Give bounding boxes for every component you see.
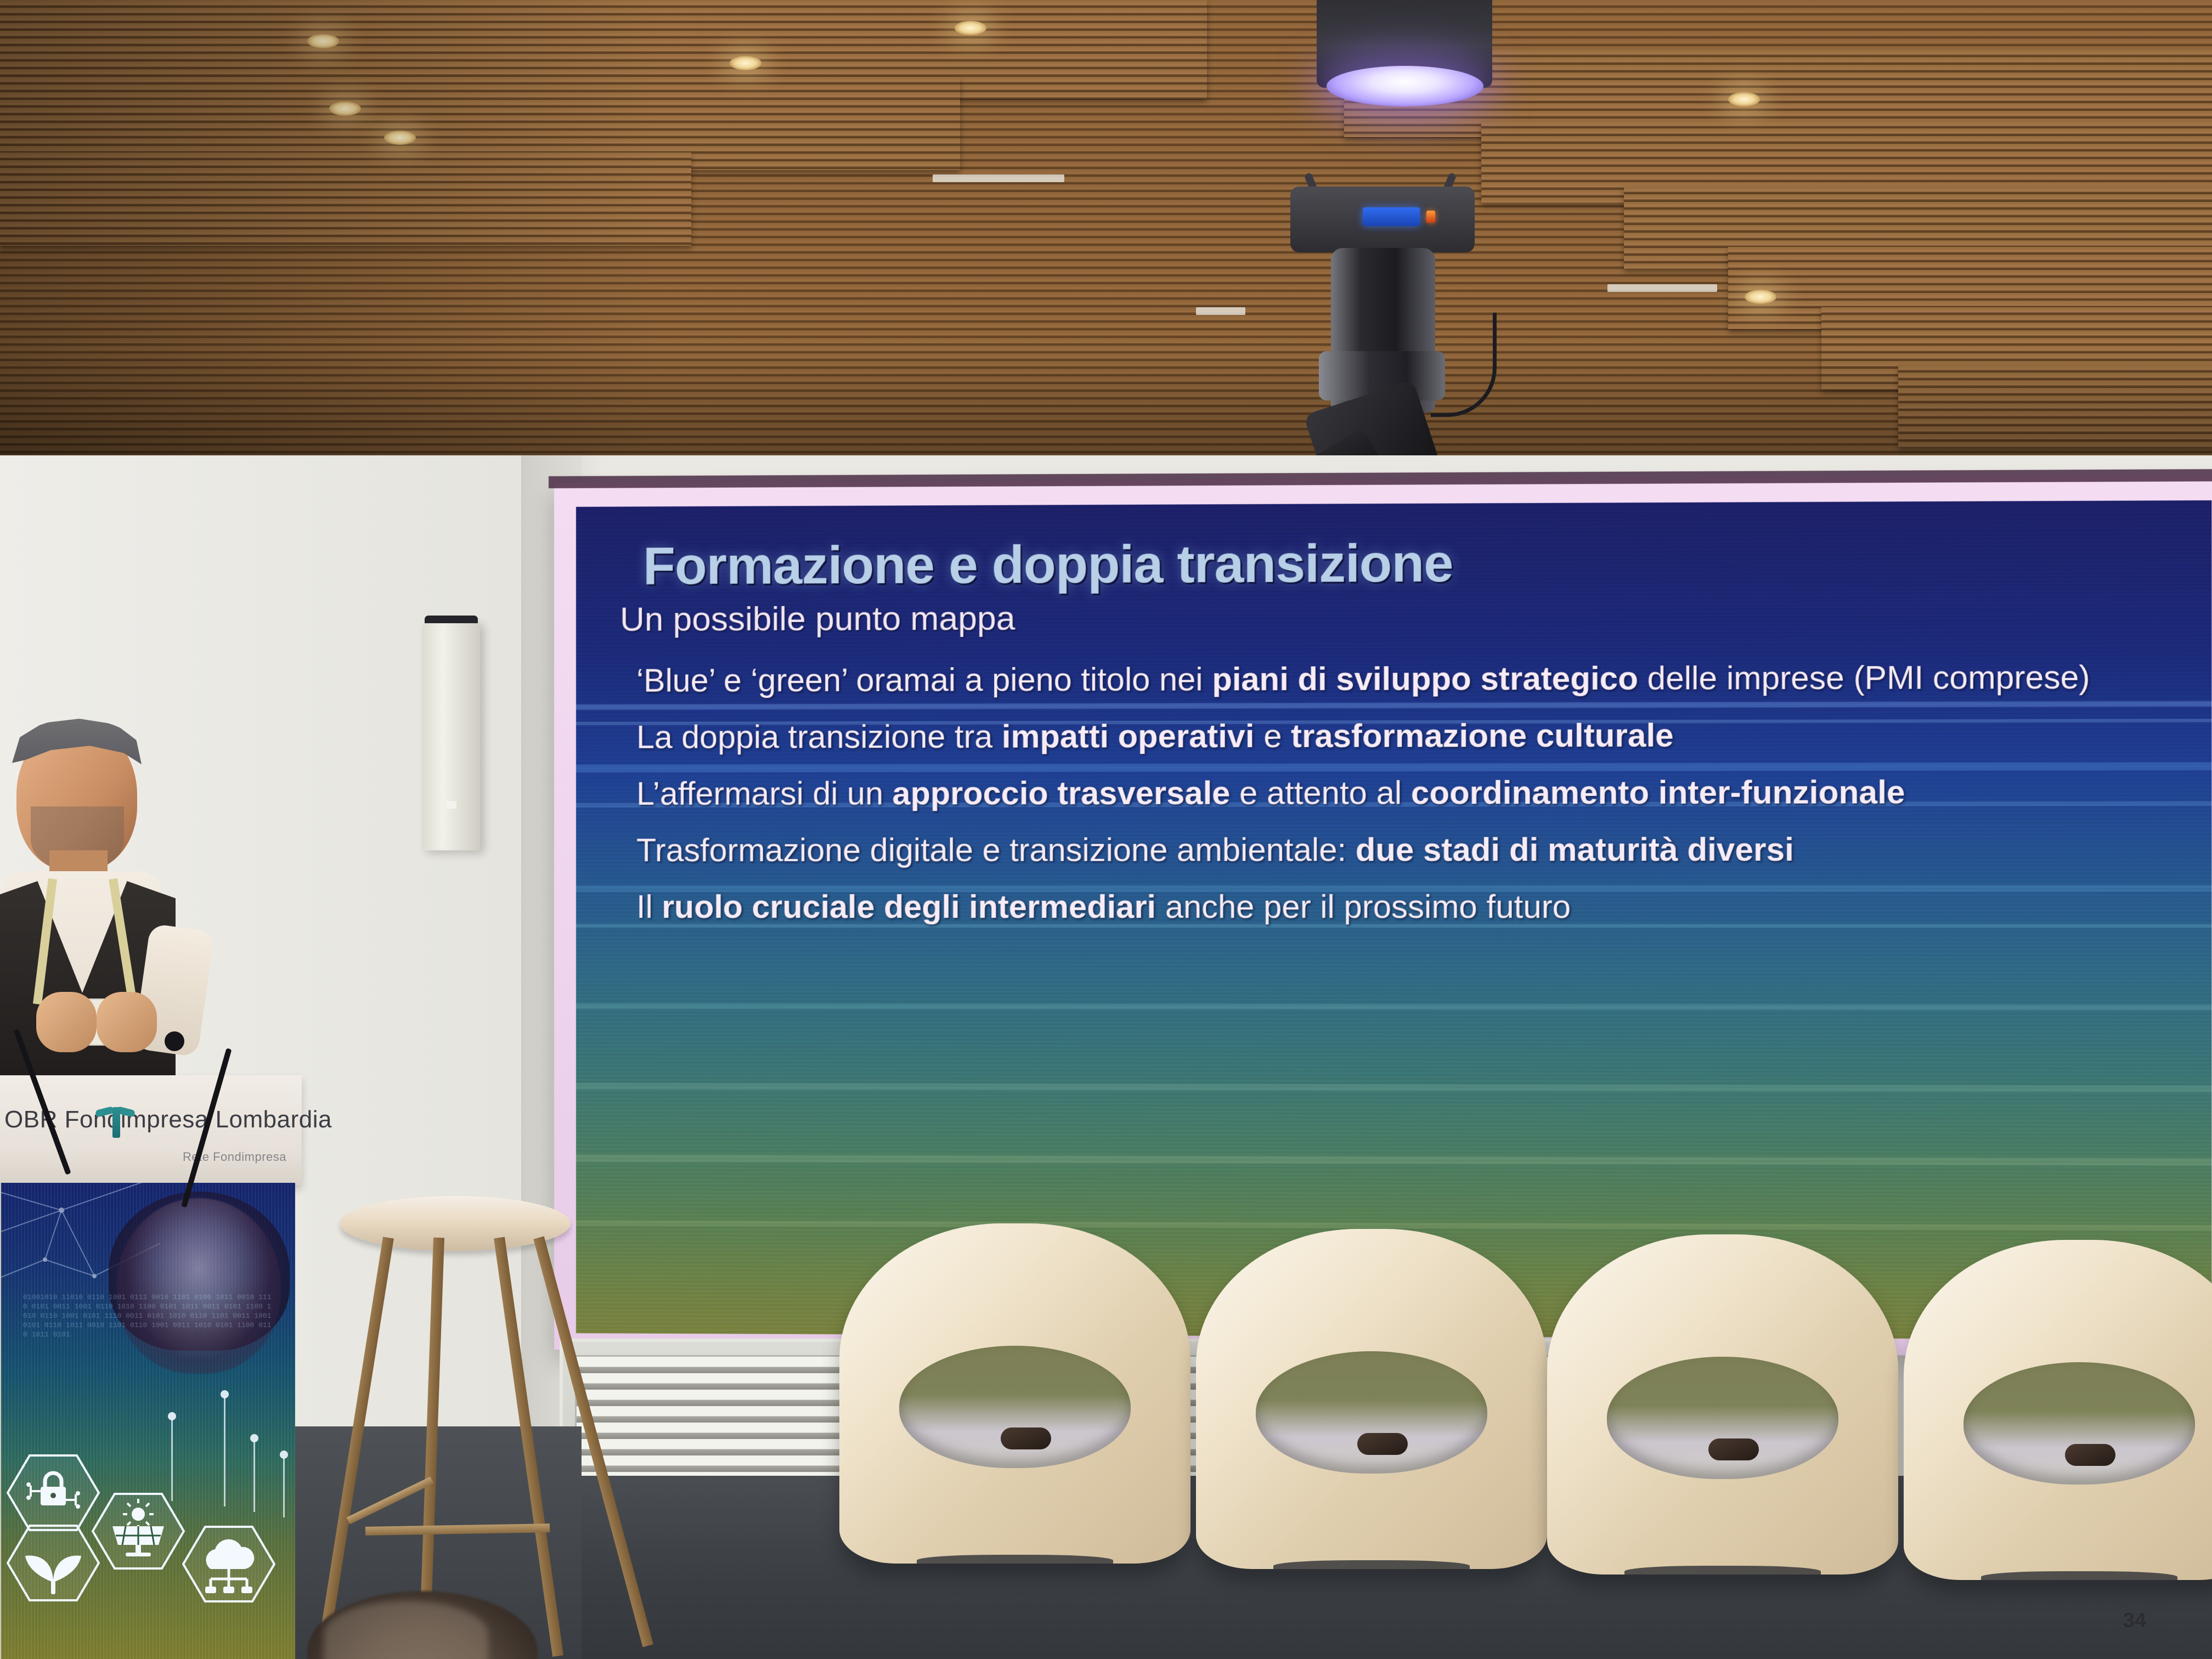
armchair-base: [1273, 1560, 1470, 1575]
slide-bullet-text: Trasformazione digitale e transizione am…: [636, 832, 1356, 868]
slide-bullet-list: ‘Blue’ e ‘green’ oramai a pieno titolo n…: [618, 658, 2172, 927]
slide-bullet-emphasis: impatti operativi: [1002, 718, 1255, 755]
recessed-downlight: [384, 131, 416, 145]
handheld-microphone[interactable]: [1357, 1433, 1408, 1455]
recessed-downlight: [329, 101, 361, 116]
slide-bullet-text: ‘Blue’ e ‘green’ oramai a pieno titolo n…: [636, 661, 1212, 699]
recessed-downlight: [730, 56, 761, 70]
presentation-slide: Formazione e doppia transizione Un possi…: [576, 500, 2211, 1340]
handheld-microphone[interactable]: [1001, 1427, 1051, 1449]
recessed-downlight: [307, 34, 339, 48]
armchair-seat-opening: [1963, 1362, 2195, 1485]
slide-bullet-text: Il: [636, 889, 662, 925]
hex-tile-cloud: [182, 1523, 275, 1605]
spotlight-status-led: [1426, 211, 1435, 223]
stool-footrest: [347, 1476, 434, 1524]
graphic-pin: [224, 1397, 225, 1506]
presenter-hand: [97, 992, 157, 1052]
slide-subtitle: Un possibile punto mappa: [620, 595, 2172, 639]
slide-bullet: L’affermarsi di un approccio trasversale…: [636, 773, 2153, 813]
slide-bullet-emphasis: piani di sviluppo strategico: [1212, 660, 1638, 697]
slide-bullet: Trasformazione digitale e transizione am…: [636, 831, 2153, 870]
seat-number-label: 34: [2123, 1609, 2146, 1633]
slide-bullet-text: e attento al: [1230, 775, 1411, 811]
armchair[interactable]: [1196, 1229, 1547, 1569]
speaker-badge: [447, 801, 456, 809]
armchair-base: [917, 1555, 1113, 1569]
solar-panel-icon: [92, 1490, 185, 1572]
slide-bullet-emphasis: ruolo cruciale degli intermediari: [662, 889, 1156, 925]
slide-bullet: Il ruolo cruciale degli intermediari anc…: [636, 888, 2153, 926]
ceiling-step: [1898, 365, 2212, 447]
handheld-microphone[interactable]: [1708, 1438, 1759, 1460]
lectern: OBR Fondimpresa Lombardia Rete Fondimpre…: [0, 1075, 302, 1659]
recessed-downlight: [1745, 290, 1776, 304]
slide-bullet-text: La doppia transizione tra: [636, 718, 1002, 755]
lectern-front-graphic: 01001010 11010 0110 1001 0111 0010 1101 …: [0, 1183, 295, 1659]
armchair-seat-opening: [1256, 1351, 1487, 1474]
slide-bullet-emphasis: trasformazione culturale: [1291, 717, 1674, 754]
armchair-base: [1624, 1566, 1821, 1580]
lectern-top-panel: OBR Fondimpresa Lombardia Rete Fondimpre…: [0, 1075, 302, 1185]
armchair[interactable]: [1904, 1240, 2212, 1580]
microphone-capsule: [165, 1031, 184, 1051]
presentation-screen: Formazione e doppia transizione Un possi…: [554, 476, 2212, 1357]
recessed-downlight: [1728, 92, 1760, 106]
handheld-microphone[interactable]: [2065, 1444, 2115, 1466]
wooden-slat-ceiling: [0, 0, 2212, 494]
leaf-icon: [7, 1522, 100, 1604]
spotlight-yoke: [1290, 187, 1475, 252]
armchair[interactable]: [1547, 1234, 1898, 1575]
presenter: [0, 724, 291, 1097]
hex-tile-leaf: [7, 1522, 100, 1604]
purple-ceiling-downlight-lens: [1327, 66, 1483, 106]
slide-bullet-emphasis: due stadi di maturità diversi: [1356, 831, 1794, 868]
conference-room-photo: Formazione e doppia transizione Un possi…: [0, 0, 2212, 1659]
ceiling-patch: [1607, 284, 1717, 292]
hex-tile-solar-panel: [92, 1490, 185, 1572]
recessed-downlight: [955, 21, 986, 35]
slide-bullet-text: anche per il prossimo futuro: [1156, 889, 1571, 926]
slide-bullet-text: delle imprese (PMI comprese): [1638, 659, 2090, 697]
armchair[interactable]: [839, 1223, 1190, 1564]
slide-bullet-text: e: [1255, 718, 1291, 754]
spotlight-display: [1363, 207, 1420, 226]
stool-footrest: [365, 1523, 550, 1536]
cloud-network-icon: [182, 1523, 275, 1605]
slide-bullet-text: L’affermarsi di un: [636, 775, 892, 812]
slide-bullet-emphasis: coordinamento inter-funzionale: [1411, 774, 1905, 811]
slide-bullet-emphasis: approccio trasversale: [893, 775, 1231, 811]
graphic-pin: [171, 1419, 173, 1501]
armchair-seat-opening: [899, 1346, 1131, 1468]
column-loudspeaker: [422, 620, 480, 850]
armchair-seat-opening: [1607, 1357, 1838, 1479]
presenter-hand: [36, 992, 97, 1052]
slide-bullet: La doppia transizione tra impatti operat…: [636, 715, 2153, 756]
bar-stool[interactable]: [329, 1196, 587, 1659]
armchair-base: [1981, 1571, 2177, 1585]
slide-title: Formazione e doppia transizione: [643, 531, 2172, 596]
graphic-pin: [283, 1457, 285, 1517]
graphic-pin: [253, 1441, 255, 1512]
ceiling-patch: [1196, 307, 1245, 315]
slide-bullet: ‘Blue’ e ‘green’ oramai a pieno titolo n…: [636, 658, 2153, 700]
ceiling-step: [0, 153, 691, 246]
fondimpresa-logo-icon: [97, 1099, 135, 1138]
ceiling-patch: [933, 174, 1064, 182]
